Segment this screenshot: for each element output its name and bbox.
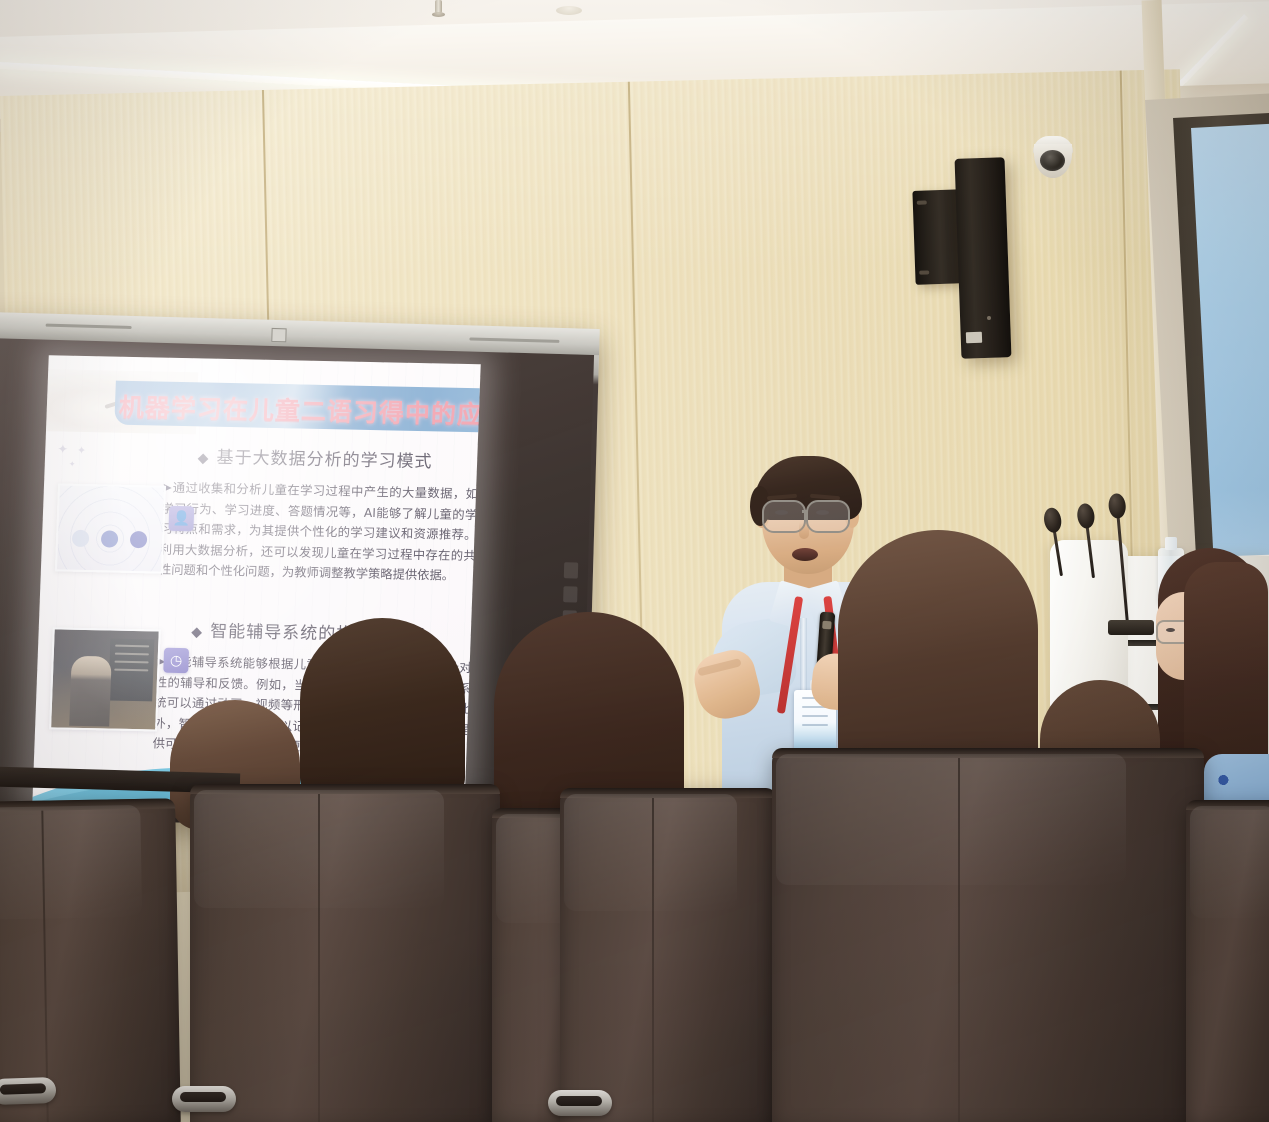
section-1-body-text: 通过收集和分析儿童在学习过程中产生的大量数据，如学习行为、学习进度、答题情况等，… — [159, 481, 478, 583]
tech-node-icon-1 — [72, 530, 90, 547]
chair-seam — [318, 794, 320, 1122]
star-icon: ✦ — [77, 445, 87, 457]
conference-chair-2[interactable] — [190, 784, 500, 1122]
diamond-bullet-icon: ◆ — [197, 450, 209, 466]
star-icon: ✦ — [57, 441, 68, 456]
conference-chair-4[interactable] — [560, 788, 776, 1122]
glasses-bridge — [802, 510, 808, 513]
tech-node-icon-2 — [101, 530, 119, 547]
chair-seam — [958, 758, 960, 1122]
camera-lens — [1040, 150, 1065, 171]
slide-star-decor: ✦ ✦ ✦ — [56, 443, 98, 486]
thumbnail-tech-diagram — [55, 483, 166, 573]
chair-highlight — [564, 794, 737, 911]
star-icon: ✦ — [69, 460, 76, 469]
conference-room-scene: 机器学习在儿童二语习得中的应用 ✦ ✦ ✦ ◆基于大数据分析的学习模式 ➤通过收… — [0, 0, 1269, 1122]
smoke-detector-icon — [556, 6, 582, 15]
sprinkler-icon — [432, 0, 445, 22]
camera-icon — [1032, 136, 1074, 180]
chair-highlight — [776, 754, 1126, 885]
photo-person — [69, 656, 112, 727]
diamond-bullet-icon-2: ◆ — [191, 624, 203, 640]
presenter-mouth — [792, 548, 818, 561]
speaker-led — [987, 316, 991, 320]
speaker-label — [966, 332, 982, 344]
conference-chair-1[interactable] — [0, 798, 181, 1122]
display-vent-right — [469, 337, 559, 343]
user-icon: 👤 — [168, 506, 194, 532]
display-sensor-icon — [271, 328, 286, 342]
attendee-2-hair — [300, 618, 465, 803]
chair-seam — [652, 798, 654, 1122]
conference-chair-5[interactable] — [772, 748, 1204, 1122]
chair-highlight — [1190, 806, 1269, 918]
chair-armrest-4[interactable] — [548, 1090, 612, 1116]
glasses-lens-right — [806, 500, 850, 533]
chair-armrest-1[interactable] — [0, 1077, 56, 1105]
chair-armrest-2[interactable] — [172, 1086, 236, 1112]
mic-base — [1108, 620, 1154, 635]
clock-icon: ◷ — [163, 648, 189, 674]
slide-title: 机器学习在儿童二语习得中的应用 — [118, 388, 479, 432]
speaker-icon — [955, 157, 1012, 359]
thumbnail-classroom-photo — [49, 627, 161, 731]
display-vent-left — [46, 324, 132, 329]
photo-chalkboard — [108, 639, 154, 702]
conference-chair-6[interactable] — [1186, 800, 1269, 1122]
slide-section-body-1: ➤通过收集和分析儿童在学习过程中产生的大量数据，如学习行为、学习进度、答题情况等… — [159, 478, 479, 587]
chair-highlight — [0, 805, 142, 920]
window — [1139, 0, 1269, 640]
tech-node-icon-3 — [130, 531, 148, 548]
presenter-nose — [799, 522, 809, 539]
display-button-1[interactable] — [564, 562, 578, 578]
attendee-2 — [300, 618, 465, 803]
display-button-2[interactable] — [563, 586, 577, 602]
